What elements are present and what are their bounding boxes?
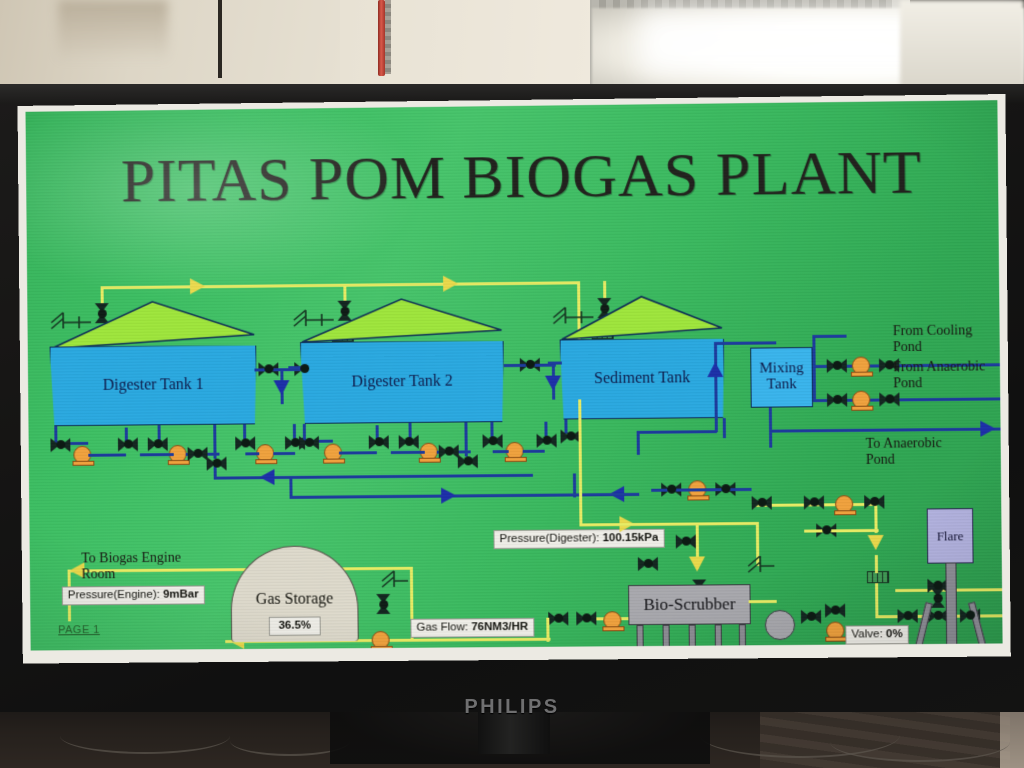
- valve-gasflow-a[interactable]: [548, 612, 568, 626]
- pipe-d2-pump-a: [339, 451, 377, 454]
- flow-arrow-return-right: [441, 487, 456, 503]
- scrubber-leg: [715, 624, 722, 650]
- valve-anaerobic-pond-out[interactable]: [879, 392, 899, 406]
- pressure-digester-readout[interactable]: Pressure(Digester): 100.15kPa: [493, 529, 664, 549]
- label-to-anaerobic-pond: To Anaerobic Pond: [866, 436, 942, 468]
- pipe-pond-top: [812, 335, 846, 338]
- pressure-digester-value: 100.15kPa: [602, 532, 658, 544]
- pipe-d1-c-in: [245, 452, 259, 455]
- valve-gas-flare-a[interactable]: [804, 495, 824, 509]
- valve-d2-b-suction[interactable]: [399, 435, 419, 449]
- valve-cooling-pond-in[interactable]: [827, 359, 847, 373]
- pipe-sediment-inlet: [548, 362, 562, 365]
- flare-stack-head[interactable]: Flare: [927, 508, 974, 564]
- wall-conduit-grey: [385, 0, 391, 74]
- digester-tank-1-label: Digester Tank 1: [50, 345, 257, 427]
- gas-flow-value: 76NM3/HR: [471, 621, 528, 633]
- valve-position-label: Valve:: [851, 628, 882, 640]
- pipe-gas-storage-link: [546, 618, 549, 642]
- wall-conduit-red: [378, 0, 385, 76]
- pump-gas-storage[interactable]: [371, 631, 393, 651]
- label-from-anaerobic-pond: From Anaerobic Pond: [893, 359, 985, 391]
- valve-scrubber-recirc[interactable]: [825, 603, 845, 617]
- pipe-d1-c-out: [273, 452, 295, 455]
- pipe-mix-top: [714, 341, 776, 345]
- pipe-scrubber-outlet: [749, 600, 777, 603]
- page-1-link[interactable]: PAGE 1: [58, 624, 100, 636]
- blower-flare[interactable]: [834, 495, 856, 515]
- flow-arrow-gas-flare-down: [868, 535, 884, 550]
- digester-tank-2-label: Digester Tank 2: [300, 340, 504, 424]
- scrubber-foot: [709, 648, 728, 650]
- flow-arrow-gas-scrubber-down: [689, 556, 705, 571]
- pipe-d2-c-in: [493, 450, 509, 453]
- valve-d1-c[interactable]: [235, 436, 255, 450]
- gas-storage-label: Gas Storage: [256, 591, 334, 610]
- label-to-biogas-engine-room: To Biogas Engine Room: [81, 551, 181, 583]
- scrubber-leg: [636, 625, 643, 650]
- valve-d2-return[interactable]: [458, 454, 478, 468]
- scrubber-leg: [689, 625, 696, 651]
- pipe-d1-return-riser: [213, 425, 216, 459]
- valve-gas-right[interactable]: [752, 496, 772, 510]
- pipe-d2-pump-b-in: [391, 451, 425, 454]
- pipe-d2-return-riser: [464, 422, 467, 456]
- valve-pressure-tap[interactable]: [676, 534, 696, 548]
- blower-gasflow[interactable]: [602, 611, 624, 631]
- wall-stain: [58, 0, 168, 62]
- label-from-cooling-pond: From Cooling Pond: [893, 323, 973, 355]
- relief-valve-icon-scrubber: [746, 556, 788, 580]
- valve-d1-b-suction[interactable]: [148, 437, 168, 451]
- pipe-to-anaerobic-pond: [769, 427, 1003, 432]
- mixing-tank-label: Mixing Tank: [751, 361, 812, 393]
- digester-tank-2[interactable]: Digester Tank 2: [300, 340, 504, 424]
- valve-d1-a-disch[interactable]: [118, 437, 138, 451]
- flow-arrow-mix-up: [707, 362, 723, 377]
- valve-scrubber-gas-in[interactable]: [638, 557, 658, 571]
- sediment-tank-label: Sediment Tank: [560, 338, 725, 420]
- flare-label: Flare: [937, 528, 964, 544]
- mixing-tank[interactable]: Mixing Tank: [750, 347, 813, 408]
- scrubber-foot: [631, 649, 650, 650]
- valve-flare-a[interactable]: [897, 609, 917, 623]
- scrubber-separator-vessel[interactable]: [765, 610, 795, 640]
- pipe-liquid-bridge-c: [573, 493, 639, 497]
- pipe-mix-feed: [637, 430, 717, 434]
- flow-arrow-d2-down: [545, 376, 561, 391]
- scrubber-foot: [657, 649, 676, 651]
- gas-header-pipe: [101, 281, 580, 289]
- valve-position-readout[interactable]: Valve: 0%: [845, 625, 909, 644]
- valve-gas-storage-top[interactable]: [376, 594, 390, 614]
- valve-d2-a-disch[interactable]: [369, 435, 389, 449]
- valve-d1-suction[interactable]: [50, 438, 70, 452]
- scrubber-leg: [663, 625, 670, 651]
- pipe-gas-to-scrubber-hdr: [579, 522, 757, 526]
- screen-frame: PITAS POM BIOGAS PLANT Dig: [18, 94, 1011, 663]
- pressure-engine-label: Pressure(Engine):: [68, 589, 160, 602]
- valve-d2-d[interactable]: [537, 434, 557, 448]
- scrubber-foot: [733, 648, 752, 650]
- pipe-gas-storage-hdr: [411, 638, 551, 642]
- scada-screen[interactable]: PITAS POM BIOGAS PLANT Dig: [26, 100, 1003, 650]
- flame-arrestor-flare: [867, 571, 889, 583]
- digester-tank-1[interactable]: Digester Tank 1: [50, 345, 257, 427]
- scrubber-leg: [739, 624, 746, 650]
- pipe-pond-riser: [812, 335, 816, 401]
- pipe-d1-pump-b-in: [140, 453, 174, 456]
- flow-arrow-gas-right: [190, 278, 205, 294]
- cable: [830, 722, 1010, 762]
- sediment-tank[interactable]: Sediment Tank: [560, 338, 725, 420]
- valve-d2-suction[interactable]: [299, 436, 319, 450]
- bio-scrubber[interactable]: Bio-Scrubber: [628, 584, 751, 625]
- pump-scrubber-drain[interactable]: [825, 622, 847, 642]
- flow-arrow-to-anaerobic: [980, 421, 995, 437]
- page-title: PITAS POM BIOGAS PLANT: [50, 136, 995, 218]
- pipe-d2-c-out: [523, 450, 545, 453]
- pressure-engine-value: 9mBar: [163, 588, 199, 600]
- pipe-liquid-bridge-a: [289, 476, 292, 498]
- pipe-gas-arrestor-in: [875, 555, 878, 573]
- pipe-mix-feed-drop: [637, 431, 640, 455]
- valve-position-value: 0%: [886, 628, 903, 640]
- relief-valve-icon-storage: [380, 569, 422, 595]
- pipe-gas-flare-bypass: [804, 529, 878, 533]
- valve-scrubber-drain[interactable]: [801, 610, 821, 624]
- scrubber-foot: [683, 649, 702, 651]
- pipe-gas-arrestor-out: [875, 583, 878, 617]
- gas-storage-level-value: 36.5%: [278, 620, 311, 632]
- pressure-engine-readout[interactable]: Pressure(Engine): 9mBar: [62, 585, 205, 605]
- gas-flow-label: Gas Flow:: [416, 621, 468, 633]
- valve-d2-c[interactable]: [483, 434, 503, 448]
- pipe-mix-bottom: [769, 408, 772, 448]
- wall-conduit-black: [218, 0, 222, 78]
- flow-arrow-d1-down: [274, 380, 290, 395]
- pump-cooling-pond[interactable]: [851, 356, 873, 376]
- pressure-digester-label: Pressure(Digester):: [499, 532, 599, 545]
- flow-arrow-return-left-a: [259, 469, 274, 485]
- valve-d1-b-disch[interactable]: [188, 447, 208, 461]
- valve-anaerobic-pond-in[interactable]: [827, 393, 847, 407]
- valve-gas-flare-b[interactable]: [864, 495, 884, 509]
- flow-arrow-gas-right: [443, 276, 458, 292]
- digester-tank-1-roof: [49, 299, 256, 351]
- monitor-brand-logo: PHILIPS: [0, 696, 1024, 719]
- cable: [60, 718, 230, 754]
- gas-flow-readout[interactable]: Gas Flow: 76NM3/HR: [410, 618, 534, 638]
- valve-gasflow-b[interactable]: [576, 611, 596, 625]
- pipe-mix-down: [715, 400, 718, 432]
- photograph-of-monitor: PHILIPS PITAS POM BIOGAS PLANT: [0, 0, 1024, 768]
- pipe-liquid-return-lower: [290, 493, 576, 498]
- bio-scrubber-label: Bio-Scrubber: [643, 594, 735, 615]
- valve-d2-b-disch[interactable]: [439, 444, 459, 458]
- pipe-sediment-right: [723, 418, 726, 438]
- gas-storage-tank[interactable]: Gas Storage 36.5%: [230, 545, 358, 642]
- gas-storage-level-readout[interactable]: 36.5%: [269, 617, 321, 636]
- flare-stack-mast: [945, 562, 957, 650]
- pump-anaerobic-pond[interactable]: [851, 391, 873, 411]
- pipe-d1-pump-a: [88, 453, 126, 456]
